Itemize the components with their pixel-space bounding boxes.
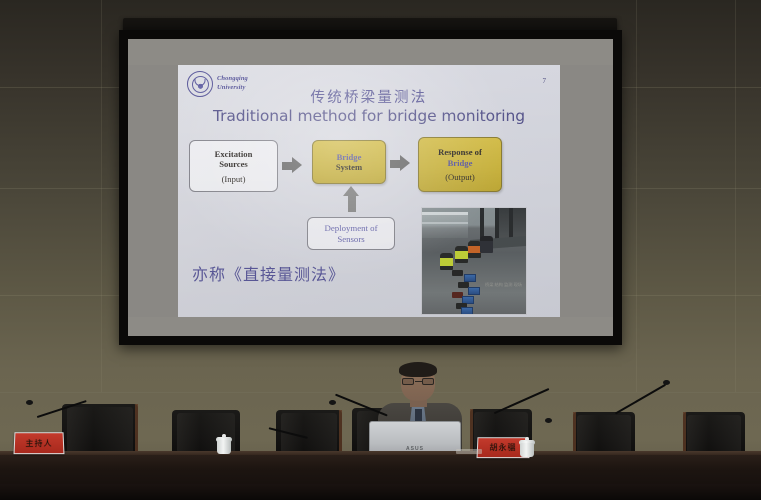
front-row-desk [0, 484, 761, 500]
letterbox-right [560, 65, 613, 317]
slide-number: 7 [543, 77, 547, 85]
box-line-2: Bridge [448, 158, 473, 169]
box-sublabel: (Output) [445, 172, 475, 182]
microphone-head [26, 400, 33, 405]
microphone [615, 384, 666, 415]
presenter-hair [399, 362, 437, 377]
box-line-1: Deployment of [324, 223, 377, 234]
teacup [216, 434, 232, 454]
wall-seam [636, 0, 637, 392]
microphone-head [663, 380, 670, 385]
diagram-box-bridge-system: Bridge System [312, 140, 386, 184]
wall-seam [735, 0, 736, 392]
diagram-box-deployment-of-sensors: Deployment of Sensors [307, 217, 395, 250]
chair [573, 412, 635, 456]
letterbox-left [128, 65, 178, 317]
microphone-head [545, 418, 552, 423]
box-sublabel: (Input) [222, 174, 246, 184]
arrow-right-icon [282, 157, 302, 174]
presentation-slide: Chongqing University 7 传统桥梁量测法 Tradition… [178, 65, 560, 317]
arrow-up-icon [343, 186, 360, 212]
nameplate-text: 主持人 [25, 438, 52, 449]
presenter: ASUS [372, 363, 468, 459]
box-line-2: Sources [219, 159, 248, 170]
box-line-2: Sensors [337, 234, 364, 245]
chair [62, 404, 138, 456]
box-line-2: System [336, 162, 362, 173]
projection-screen: Chongqing University 7 传统桥梁量测法 Tradition… [119, 30, 622, 345]
chair [683, 412, 745, 456]
photo-watermark: 桥梁 结构 监测 现场 [485, 282, 522, 288]
diagram-box-excitation-sources: Excitation Sources (Input) [189, 140, 278, 192]
slide-title-english: Traditional method for bridge monitoring [178, 107, 560, 125]
microphone-head [329, 400, 336, 405]
university-name-line1: Chongqing [217, 74, 248, 83]
box-line-1: Bridge [337, 152, 362, 163]
teacup [519, 437, 535, 457]
wall-seam [101, 0, 102, 392]
slide-title-chinese: 传统桥梁量测法 [178, 86, 560, 107]
presenter-glasses-icon [402, 378, 434, 385]
nameplate-text: 胡永骝 [489, 442, 516, 453]
arrow-right-icon [390, 155, 410, 172]
nameplate-moderator: 主持人 [14, 432, 65, 454]
conference-hall-background: PROJECTA Chongqing University 7 传统桥梁量测法 … [0, 0, 761, 500]
box-line-1: Response of [438, 147, 482, 158]
screen-surface: Chongqing University 7 传统桥梁量测法 Tradition… [128, 39, 613, 336]
papers [456, 449, 482, 454]
box-line-1: Excitation [215, 149, 253, 160]
bridge-inspection-photo: 桥梁 结构 监测 现场 [421, 207, 527, 315]
slide-note-chinese: 亦称《直接量测法》 [192, 261, 345, 285]
diagram-box-response-of-bridge: Response of Bridge (Output) [418, 137, 502, 192]
